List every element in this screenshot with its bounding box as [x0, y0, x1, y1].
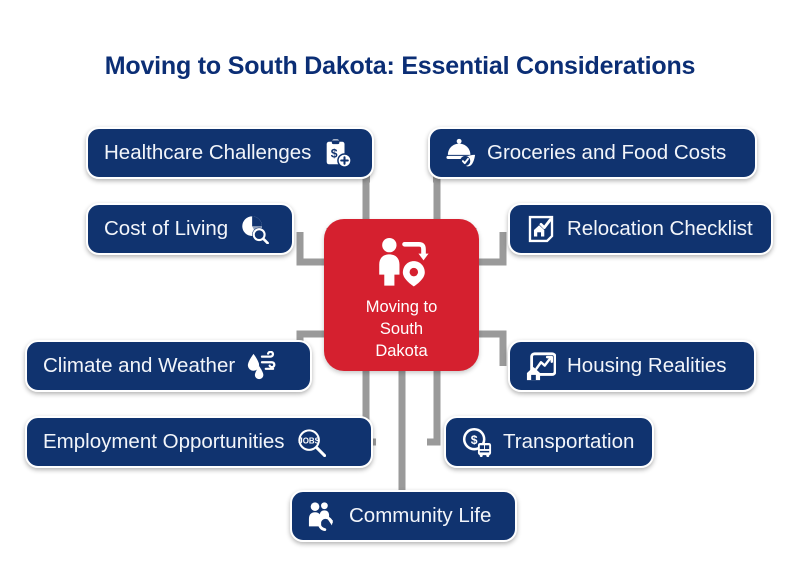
house-checklist-icon [526, 214, 556, 244]
svg-text:$: $ [471, 433, 478, 447]
branch-label: Transportation [503, 432, 634, 453]
branch-cost-of-living[interactable]: Cost of Living [86, 203, 294, 255]
people-refresh-icon [308, 501, 338, 531]
branch-climate-and-weather[interactable]: Climate and Weather [25, 340, 312, 392]
branch-label: Groceries and Food Costs [487, 143, 726, 164]
svg-text:JOBS: JOBS [298, 436, 320, 445]
dollar-bus-icon: $ [462, 427, 492, 457]
food-cloche-leaf-icon [446, 138, 476, 168]
branch-transportation[interactable]: $ Transportation [444, 416, 654, 468]
connector-transportation [427, 371, 437, 442]
svg-text:$: $ [331, 147, 338, 161]
infographic-canvas: Moving to South Dakota: Essential Consid… [0, 0, 800, 587]
branch-groceries-and-food-costs[interactable]: Groceries and Food Costs [428, 127, 757, 179]
pie-chart-magnifier-icon [239, 214, 269, 244]
center-label-line3: Dakota [375, 342, 427, 360]
branch-label: Relocation Checklist [567, 219, 753, 240]
branch-label: Employment Opportunities [43, 432, 285, 453]
branch-relocation-checklist[interactable]: Relocation Checklist [508, 203, 773, 255]
connector-groceries [433, 179, 437, 219]
branch-label: Community Life [349, 506, 491, 527]
person-relocation-pin-icon [375, 237, 429, 287]
connector-housing [479, 334, 503, 366]
branch-housing-realities[interactable]: Housing Realities [508, 340, 756, 392]
branch-healthcare-challenges[interactable]: Healthcare Challenges $ [86, 127, 374, 179]
branch-community-life[interactable]: Community Life [290, 490, 517, 542]
center-node-label: Moving to South Dakota [366, 297, 438, 362]
center-node[interactable]: Moving to South Dakota [324, 219, 479, 371]
house-chart-icon [526, 351, 556, 381]
branch-employment-opportunities[interactable]: Employment Opportunities JOBS [25, 416, 373, 468]
connector-healthcare [366, 179, 370, 219]
branch-label: Climate and Weather [43, 356, 235, 377]
branch-label: Healthcare Challenges [104, 143, 311, 164]
branch-label: Housing Realities [567, 356, 727, 377]
branch-label: Cost of Living [104, 219, 228, 240]
jobs-magnifier-icon: JOBS [296, 427, 326, 457]
water-drops-wind-icon [246, 351, 276, 381]
clipboard-medical-cost-icon: $ [322, 138, 352, 168]
center-label-line2: South [380, 320, 423, 338]
center-label-line1: Moving to [366, 298, 438, 316]
page-title: Moving to South Dakota: Essential Consid… [0, 52, 800, 81]
